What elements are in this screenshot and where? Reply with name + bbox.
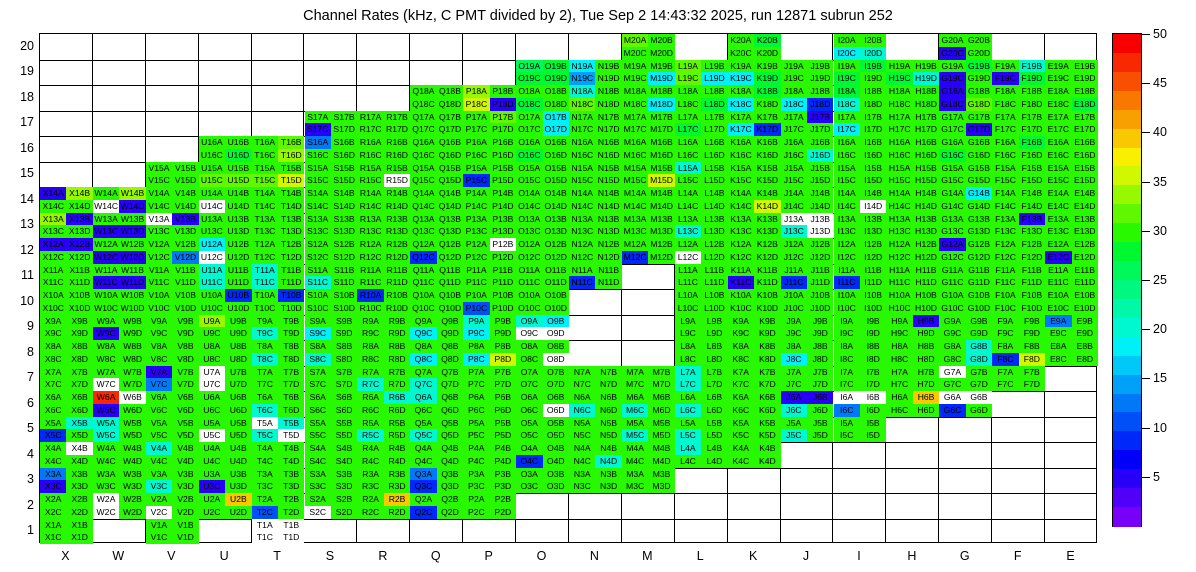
heatmap-cell[interactable]: S6AS6BS6CS6D bbox=[305, 391, 358, 417]
heatmap-cell[interactable]: L15AL15BL15CL15D bbox=[675, 162, 728, 188]
channel-x9c[interactable]: X9C bbox=[40, 327, 66, 340]
channel-o7a[interactable]: O7A bbox=[516, 366, 542, 379]
channel-s10b[interactable]: S10B bbox=[331, 289, 357, 302]
channel-j15a[interactable]: J15A bbox=[781, 162, 807, 175]
heatmap-cell[interactable]: G18AG18BG18CG18D bbox=[939, 85, 992, 111]
channel-r13a[interactable]: R13A bbox=[357, 213, 383, 226]
channel-s16b[interactable]: S16B bbox=[331, 136, 357, 149]
heatmap-cell[interactable]: O9AO9BO9CO9D bbox=[516, 315, 569, 341]
heatmap-cell[interactable]: K5AK5BK5CK5D bbox=[728, 417, 781, 443]
channel-g6d[interactable]: G6D bbox=[966, 404, 992, 417]
heatmap-cell[interactable]: U16AU16BU16CU16D bbox=[199, 136, 252, 162]
heatmap-cell[interactable]: I7AI7BI7CI7D bbox=[834, 366, 887, 392]
channel-g10c[interactable]: G10C bbox=[939, 302, 965, 315]
heatmap-cell[interactable]: N19AN19BN19CN19D bbox=[569, 60, 622, 86]
channel-u11c[interactable]: U11C bbox=[199, 276, 225, 289]
channel-u16b[interactable]: U16B bbox=[225, 136, 251, 149]
channel-n15b[interactable]: N15B bbox=[595, 162, 621, 175]
channel-u12c[interactable]: U12C bbox=[199, 251, 225, 264]
heatmap-cell[interactable]: J5AJ5BJ5CJ5D bbox=[781, 417, 834, 443]
channel-u4b[interactable]: U4B bbox=[225, 442, 251, 455]
channel-o15d[interactable]: O15D bbox=[543, 174, 569, 187]
channel-k18c[interactable]: K18C bbox=[728, 98, 754, 111]
channel-t9b[interactable]: T9B bbox=[278, 315, 304, 328]
heatmap-cell[interactable]: I8AI8BI8CI8D bbox=[834, 340, 887, 366]
heatmap-cell[interactable]: Q15AQ15BQ15CQ15D bbox=[410, 162, 463, 188]
heatmap-cell[interactable]: O14AO14BO14CO14D bbox=[516, 187, 569, 213]
channel-i9a[interactable]: I9A bbox=[834, 315, 860, 328]
channel-i16b[interactable]: I16B bbox=[860, 136, 886, 149]
channel-j12a[interactable]: J12A bbox=[781, 238, 807, 251]
channel-l16b[interactable]: L16B bbox=[701, 136, 727, 149]
channel-k9a[interactable]: K9A bbox=[728, 315, 754, 328]
channel-n18d[interactable]: N18D bbox=[595, 98, 621, 111]
channel-i18a[interactable]: I18A bbox=[834, 85, 860, 98]
heatmap-cell[interactable]: J9AJ9BJ9CJ9D bbox=[781, 315, 834, 341]
channel-p3b[interactable]: P3B bbox=[490, 468, 516, 481]
channel-p13d[interactable]: P13D bbox=[490, 225, 516, 238]
channel-m7d[interactable]: M7D bbox=[648, 378, 674, 391]
channel-s15b[interactable]: S15B bbox=[331, 162, 357, 175]
channel-s16a[interactable]: S16A bbox=[305, 136, 331, 149]
channel-x4c[interactable]: X4C bbox=[40, 455, 66, 468]
channel-l17a[interactable]: L17A bbox=[675, 111, 701, 124]
channel-p16c[interactable]: P16C bbox=[463, 149, 489, 162]
channel-e10b[interactable]: E10B bbox=[1072, 289, 1098, 302]
channel-u3b[interactable]: U3B bbox=[225, 468, 251, 481]
channel-o3b[interactable]: O3B bbox=[543, 468, 569, 481]
channel-k13c[interactable]: K13C bbox=[728, 225, 754, 238]
channel-g11c[interactable]: G11C bbox=[939, 276, 965, 289]
channel-p10b[interactable]: P10B bbox=[490, 289, 516, 302]
channel-s6c[interactable]: S6C bbox=[305, 404, 331, 417]
channel-r2c[interactable]: R2C bbox=[357, 506, 383, 519]
channel-o17c[interactable]: O17C bbox=[516, 123, 542, 136]
heatmap-cell[interactable]: W12AW12BW12CW12D bbox=[93, 238, 146, 264]
channel-t8d[interactable]: T8D bbox=[278, 353, 304, 366]
channel-k9c[interactable]: K9C bbox=[728, 327, 754, 340]
channel-r13d[interactable]: R13D bbox=[384, 225, 410, 238]
channel-p5b[interactable]: P5B bbox=[490, 417, 516, 430]
heatmap-cell[interactable]: L6AL6BL6CL6D bbox=[675, 391, 728, 417]
channel-r3d[interactable]: R3D bbox=[384, 480, 410, 493]
channel-r8c[interactable]: R8C bbox=[357, 353, 383, 366]
channel-s12c[interactable]: S12C bbox=[305, 251, 331, 264]
heatmap-cell[interactable]: K17AK17BK17CK17D bbox=[728, 111, 781, 137]
channel-j9b[interactable]: J9B bbox=[807, 315, 833, 328]
channel-r17b[interactable]: R17B bbox=[384, 111, 410, 124]
channel-s4d[interactable]: S4D bbox=[331, 455, 357, 468]
channel-i15b[interactable]: I15B bbox=[860, 162, 886, 175]
channel-x14d[interactable]: X14D bbox=[66, 200, 92, 213]
heatmap-cell[interactable]: G11AG11BG11CG11D bbox=[939, 264, 992, 290]
heatmap-cell[interactable]: O8AO8BO8CO8D bbox=[516, 340, 569, 366]
channel-p9b[interactable]: P9B bbox=[490, 315, 516, 328]
channel-p3a[interactable]: P3A bbox=[463, 468, 489, 481]
channel-w9c[interactable]: W9C bbox=[93, 327, 119, 340]
channel-w11a[interactable]: W11A bbox=[93, 264, 119, 277]
channel-u13b[interactable]: U13B bbox=[225, 213, 251, 226]
channel-r13b[interactable]: R13B bbox=[384, 213, 410, 226]
channel-n5d[interactable]: N5D bbox=[595, 429, 621, 442]
channel-o8a[interactable]: O8A bbox=[516, 340, 542, 353]
channel-x8b[interactable]: X8B bbox=[66, 340, 92, 353]
channel-p7d[interactable]: P7D bbox=[490, 378, 516, 391]
heatmap-cell[interactable]: F17AF17BF17CF17D bbox=[992, 111, 1045, 137]
channel-t8c[interactable]: T8C bbox=[252, 353, 278, 366]
channel-f19c[interactable]: F19C bbox=[992, 72, 1018, 85]
channel-s2d[interactable]: S2D bbox=[331, 506, 357, 519]
channel-r15c[interactable]: R15C bbox=[357, 174, 383, 187]
channel-x1c[interactable]: X1C bbox=[40, 531, 66, 544]
channel-l18b[interactable]: L18B bbox=[701, 85, 727, 98]
channel-j14a[interactable]: J14A bbox=[781, 187, 807, 200]
channel-w10c[interactable]: W10C bbox=[93, 302, 119, 315]
heatmap-cell[interactable]: P5AP5BP5CP5D bbox=[463, 417, 516, 443]
channel-e11b[interactable]: E11B bbox=[1072, 264, 1098, 277]
channel-j18a[interactable]: J18A bbox=[781, 85, 807, 98]
channel-f9d[interactable]: F9D bbox=[1019, 327, 1045, 340]
heatmap-cell[interactable]: X1AX1BX1CX1D bbox=[40, 519, 93, 545]
channel-p3d[interactable]: P3D bbox=[490, 480, 516, 493]
channel-i13b[interactable]: I13B bbox=[860, 213, 886, 226]
channel-h10b[interactable]: H10B bbox=[913, 289, 939, 302]
channel-x8d[interactable]: X8D bbox=[66, 353, 92, 366]
heatmap-cell[interactable]: L11AL11BL11CL11D bbox=[675, 264, 728, 290]
channel-v3b[interactable]: V3B bbox=[172, 468, 198, 481]
channel-u2a[interactable]: U2A bbox=[199, 493, 225, 506]
channel-p15a[interactable]: P15A bbox=[463, 162, 489, 175]
heatmap-cell[interactable]: Q14AQ14BQ14CQ14D bbox=[410, 187, 463, 213]
heatmap-cell[interactable]: K7AK7BK7CK7D bbox=[728, 366, 781, 392]
channel-m20c[interactable]: M20C bbox=[622, 47, 648, 60]
channel-q9d[interactable]: Q9D bbox=[437, 327, 463, 340]
channel-j13a[interactable]: J13A bbox=[781, 213, 807, 226]
heatmap-cell[interactable]: P2AP2BP2CP2D bbox=[463, 493, 516, 519]
channel-l6d[interactable]: L6D bbox=[701, 404, 727, 417]
heatmap-cell[interactable]: U13AU13BU13CU13D bbox=[199, 213, 252, 239]
channel-n7c[interactable]: N7C bbox=[569, 378, 595, 391]
channel-s2b[interactable]: S2B bbox=[331, 493, 357, 506]
channel-i10d[interactable]: I10D bbox=[860, 302, 886, 315]
channel-r3a[interactable]: R3A bbox=[357, 468, 383, 481]
heatmap-cell[interactable]: M18AM18BM18CM18D bbox=[622, 85, 675, 111]
channel-t15a[interactable]: T15A bbox=[252, 162, 278, 175]
channel-w4d[interactable]: W4D bbox=[119, 455, 145, 468]
channel-k10a[interactable]: K10A bbox=[728, 289, 754, 302]
channel-h13d[interactable]: H13D bbox=[913, 225, 939, 238]
channel-w3c[interactable]: W3C bbox=[93, 480, 119, 493]
channel-l5a[interactable]: L5A bbox=[675, 417, 701, 430]
channel-f17b[interactable]: F17B bbox=[1019, 111, 1045, 124]
channel-n4c[interactable]: N4C bbox=[569, 455, 595, 468]
heatmap-cell[interactable]: E10AE10BE10CE10D bbox=[1045, 289, 1098, 315]
heatmap-cell[interactable]: O12AO12BO12CO12D bbox=[516, 238, 569, 264]
heatmap-cell[interactable]: U8AU8BU8CU8D bbox=[199, 340, 252, 366]
channel-p6a[interactable]: P6A bbox=[463, 391, 489, 404]
channel-k11d[interactable]: K11D bbox=[754, 276, 780, 289]
heatmap-cell[interactable]: P14AP14BP14CP14D bbox=[463, 187, 516, 213]
channel-o12d[interactable]: O12D bbox=[543, 251, 569, 264]
channel-j19c[interactable]: J19C bbox=[781, 72, 807, 85]
channel-o9c[interactable]: O9C bbox=[516, 327, 542, 340]
channel-r5a[interactable]: R5A bbox=[357, 417, 383, 430]
channel-w7b[interactable]: W7B bbox=[119, 366, 145, 379]
channel-n6b[interactable]: N6B bbox=[595, 391, 621, 404]
heatmap-cell[interactable]: O10AO10BO10CO10D bbox=[516, 289, 569, 315]
channel-w14a[interactable]: W14A bbox=[93, 187, 119, 200]
channel-t1a[interactable]: T1A bbox=[252, 519, 278, 532]
channel-s10c[interactable]: S10C bbox=[305, 302, 331, 315]
channel-g20a[interactable]: G20A bbox=[939, 34, 965, 47]
channel-s5d[interactable]: S5D bbox=[331, 429, 357, 442]
channel-m15a[interactable]: M15A bbox=[622, 162, 648, 175]
channel-i6b[interactable]: I6B bbox=[860, 391, 886, 404]
heatmap-cell[interactable]: F13AF13BF13CF13D bbox=[992, 213, 1045, 239]
channel-o11d[interactable]: O11D bbox=[543, 276, 569, 289]
channel-o10c[interactable]: O10C bbox=[516, 302, 542, 315]
channel-v7a[interactable]: V7A bbox=[146, 366, 172, 379]
channel-k14c[interactable]: K14C bbox=[728, 200, 754, 213]
channel-f10c[interactable]: F10C bbox=[992, 302, 1018, 315]
channel-s4c[interactable]: S4C bbox=[305, 455, 331, 468]
channel-x2d[interactable]: X2D bbox=[66, 506, 92, 519]
channel-l5b[interactable]: L5B bbox=[701, 417, 727, 430]
channel-g14b[interactable]: G14B bbox=[966, 187, 992, 200]
channel-m18c[interactable]: M18C bbox=[622, 98, 648, 111]
channel-k12a[interactable]: K12A bbox=[728, 238, 754, 251]
channel-i19d[interactable]: I19D bbox=[860, 72, 886, 85]
channel-l9b[interactable]: L9B bbox=[701, 315, 727, 328]
channel-h16d[interactable]: H16D bbox=[913, 149, 939, 162]
heatmap-cell[interactable]: M6AM6BM6CM6D bbox=[622, 391, 675, 417]
channel-o19a[interactable]: O19A bbox=[516, 60, 542, 73]
channel-w7a[interactable]: W7A bbox=[93, 366, 119, 379]
channel-g11d[interactable]: G11D bbox=[966, 276, 992, 289]
channel-t5c[interactable]: T5C bbox=[252, 429, 278, 442]
channel-p7c[interactable]: P7C bbox=[463, 378, 489, 391]
channel-g6c[interactable]: G6C bbox=[939, 404, 965, 417]
heatmap-cell[interactable]: W7AW7BW7CW7D bbox=[93, 366, 146, 392]
channel-i10c[interactable]: I10C bbox=[834, 302, 860, 315]
channel-t13b[interactable]: T13B bbox=[278, 213, 304, 226]
channel-j8b[interactable]: J8B bbox=[807, 340, 833, 353]
heatmap-cell[interactable]: R2AR2BR2CR2D bbox=[357, 493, 410, 519]
channel-q14c[interactable]: Q14C bbox=[410, 200, 436, 213]
channel-o4a[interactable]: O4A bbox=[516, 442, 542, 455]
channel-g11a[interactable]: G11A bbox=[939, 264, 965, 277]
channel-k11b[interactable]: K11B bbox=[754, 264, 780, 277]
channel-t1d[interactable]: T1D bbox=[278, 531, 304, 544]
channel-l11b[interactable]: L11B bbox=[701, 264, 727, 277]
channel-v1a[interactable]: V1A bbox=[146, 519, 172, 532]
channel-i8b[interactable]: I8B bbox=[860, 340, 886, 353]
channel-m13c[interactable]: M13C bbox=[622, 225, 648, 238]
channel-r10d[interactable]: R10D bbox=[384, 302, 410, 315]
heatmap-cell[interactable]: W9AW9BW9CW9D bbox=[93, 315, 146, 341]
channel-g17c[interactable]: G17C bbox=[939, 123, 965, 136]
channel-h12d[interactable]: H12D bbox=[913, 251, 939, 264]
channel-l13a[interactable]: L13A bbox=[675, 213, 701, 226]
channel-n12b[interactable]: N12B bbox=[595, 238, 621, 251]
heatmap-cell[interactable]: Q13AQ13BQ13CQ13D bbox=[410, 213, 463, 239]
channel-f10d[interactable]: F10D bbox=[1019, 302, 1045, 315]
channel-o16a[interactable]: O16A bbox=[516, 136, 542, 149]
channel-i17d[interactable]: I17D bbox=[860, 123, 886, 136]
heatmap-cell[interactable]: P12AP12BP12CP12D bbox=[463, 238, 516, 264]
heatmap-cell[interactable]: Q6AQ6BQ6CQ6D bbox=[410, 391, 463, 417]
channel-g19b[interactable]: G19B bbox=[966, 60, 992, 73]
channel-i11c[interactable]: I11C bbox=[834, 276, 860, 289]
channel-t14d[interactable]: T14D bbox=[278, 200, 304, 213]
channel-u8b[interactable]: U8B bbox=[225, 340, 251, 353]
channel-v6d[interactable]: V6D bbox=[172, 404, 198, 417]
channel-k5a[interactable]: K5A bbox=[728, 417, 754, 430]
heatmap-cell[interactable]: U11AU11BU11CU11D bbox=[199, 264, 252, 290]
channel-m19a[interactable]: M19A bbox=[622, 60, 648, 73]
channel-v5d[interactable]: V5D bbox=[172, 429, 198, 442]
channel-u10a[interactable]: U10A bbox=[199, 289, 225, 302]
channel-t11c[interactable]: T11C bbox=[252, 276, 278, 289]
channel-w13a[interactable]: W13A bbox=[93, 213, 119, 226]
channel-p9d[interactable]: P9D bbox=[490, 327, 516, 340]
channel-n5b[interactable]: N5B bbox=[595, 417, 621, 430]
heatmap-cell[interactable]: G9AG9BG9CG9D bbox=[939, 315, 992, 341]
heatmap-cell[interactable]: N14AN14BN14CN14D bbox=[569, 187, 622, 213]
channel-p11c[interactable]: P11C bbox=[463, 276, 489, 289]
channel-g16b[interactable]: G16B bbox=[966, 136, 992, 149]
heatmap-cell[interactable]: O3AO3BO3CO3D bbox=[516, 468, 569, 494]
channel-o3d[interactable]: O3D bbox=[543, 480, 569, 493]
channel-g9c[interactable]: G9C bbox=[939, 327, 965, 340]
channel-g18a[interactable]: G18A bbox=[939, 85, 965, 98]
channel-u10c[interactable]: U10C bbox=[199, 302, 225, 315]
channel-n17d[interactable]: N17D bbox=[595, 123, 621, 136]
channel-g20c[interactable]: G20C bbox=[939, 47, 965, 60]
channel-v12d[interactable]: V12D bbox=[172, 251, 198, 264]
channel-q11c[interactable]: Q11C bbox=[410, 276, 436, 289]
channel-x5b[interactable]: X5B bbox=[66, 417, 92, 430]
channel-g6b[interactable]: G6B bbox=[966, 391, 992, 404]
channel-o3a[interactable]: O3A bbox=[516, 468, 542, 481]
channel-n16c[interactable]: N16C bbox=[569, 149, 595, 162]
heatmap-cell[interactable]: S5AS5BS5CS5D bbox=[305, 417, 358, 443]
heatmap-cell[interactable]: L8AL8BL8CL8D bbox=[675, 340, 728, 366]
heatmap-cell[interactable]: M17AM17BM17CM17D bbox=[622, 111, 675, 137]
heatmap-cell[interactable]: T15AT15BT15CT15D bbox=[252, 162, 305, 188]
channel-w8d[interactable]: W8D bbox=[119, 353, 145, 366]
channel-e19a[interactable]: E19A bbox=[1045, 60, 1071, 73]
channel-f13b[interactable]: F13B bbox=[1019, 213, 1045, 226]
channel-e13b[interactable]: E13B bbox=[1072, 213, 1098, 226]
channel-r3b[interactable]: R3B bbox=[384, 468, 410, 481]
channel-g15b[interactable]: G15B bbox=[966, 162, 992, 175]
heatmap-cell[interactable]: K13AK13BK13CK13D bbox=[728, 213, 781, 239]
channel-l10a[interactable]: L10A bbox=[675, 289, 701, 302]
channel-i15a[interactable]: I15A bbox=[834, 162, 860, 175]
channel-v2b[interactable]: V2B bbox=[172, 493, 198, 506]
channel-w8b[interactable]: W8B bbox=[119, 340, 145, 353]
channel-p4d[interactable]: P4D bbox=[490, 455, 516, 468]
channel-x14a[interactable]: X14A bbox=[40, 187, 66, 200]
channel-q8c[interactable]: Q8C bbox=[410, 353, 436, 366]
channel-e10a[interactable]: E10A bbox=[1045, 289, 1071, 302]
channel-f18b[interactable]: F18B bbox=[1019, 85, 1045, 98]
channel-t8a[interactable]: T8A bbox=[252, 340, 278, 353]
channel-u9c[interactable]: U9C bbox=[199, 327, 225, 340]
channel-h17d[interactable]: H17D bbox=[913, 123, 939, 136]
channel-i8d[interactable]: I8D bbox=[860, 353, 886, 366]
channel-x10d[interactable]: X10D bbox=[66, 302, 92, 315]
heatmap-cell[interactable]: F7AF7BF7CF7D bbox=[992, 366, 1045, 392]
channel-t12b[interactable]: T12B bbox=[278, 238, 304, 251]
channel-s3c[interactable]: S3C bbox=[305, 480, 331, 493]
channel-l4b[interactable]: L4B bbox=[701, 442, 727, 455]
channel-t15c[interactable]: T15C bbox=[252, 174, 278, 187]
channel-g19c[interactable]: G19C bbox=[939, 72, 965, 85]
channel-f18c[interactable]: F18C bbox=[992, 98, 1018, 111]
channel-v15a[interactable]: V15A bbox=[146, 162, 172, 175]
channel-i12d[interactable]: I12D bbox=[860, 251, 886, 264]
channel-f16a[interactable]: F16A bbox=[992, 136, 1018, 149]
channel-i5a[interactable]: I5A bbox=[834, 417, 860, 430]
channel-o17a[interactable]: O17A bbox=[516, 111, 542, 124]
channel-k4a[interactable]: K4A bbox=[728, 442, 754, 455]
channel-o18b[interactable]: O18B bbox=[543, 85, 569, 98]
heatmap-cell[interactable]: E12AE12BE12CE12D bbox=[1045, 238, 1098, 264]
channel-i11d[interactable]: I11D bbox=[860, 276, 886, 289]
channel-u3d[interactable]: U3D bbox=[225, 480, 251, 493]
channel-q3c[interactable]: Q3C bbox=[410, 480, 436, 493]
channel-s5a[interactable]: S5A bbox=[305, 417, 331, 430]
channel-s8a[interactable]: S8A bbox=[305, 340, 331, 353]
heatmap-cell[interactable]: P16AP16BP16CP16D bbox=[463, 136, 516, 162]
channel-k8d[interactable]: K8D bbox=[754, 353, 780, 366]
channel-v14c[interactable]: V14C bbox=[146, 200, 172, 213]
channel-v15b[interactable]: V15B bbox=[172, 162, 198, 175]
channel-j6d[interactable]: J6D bbox=[807, 404, 833, 417]
heatmap-cell[interactable]: R17AR17BR17CR17D bbox=[357, 111, 410, 137]
channel-h7d[interactable]: H7D bbox=[913, 378, 939, 391]
channel-f11b[interactable]: F11B bbox=[1019, 264, 1045, 277]
channel-j5c[interactable]: J5C bbox=[781, 429, 807, 442]
channel-i18c[interactable]: I18C bbox=[834, 98, 860, 111]
channel-l7a[interactable]: L7A bbox=[675, 366, 701, 379]
channel-q4d[interactable]: Q4D bbox=[437, 455, 463, 468]
channel-u11d[interactable]: U11D bbox=[225, 276, 251, 289]
channel-j9a[interactable]: J9A bbox=[781, 315, 807, 328]
channel-u15a[interactable]: U15A bbox=[199, 162, 225, 175]
channel-p14c[interactable]: P14C bbox=[463, 200, 489, 213]
channel-l17d[interactable]: L17D bbox=[701, 123, 727, 136]
channel-h8b[interactable]: H8B bbox=[913, 340, 939, 353]
channel-w9a[interactable]: W9A bbox=[93, 315, 119, 328]
channel-s9c[interactable]: S9C bbox=[305, 327, 331, 340]
channel-h11d[interactable]: H11D bbox=[913, 276, 939, 289]
channel-h11a[interactable]: H11A bbox=[886, 264, 912, 277]
heatmap-cell[interactable]: V4AV4BV4CV4D bbox=[146, 442, 199, 468]
channel-e9b[interactable]: E9B bbox=[1072, 315, 1098, 328]
channel-f19b[interactable]: F19B bbox=[1019, 60, 1045, 73]
channel-v14a[interactable]: V14A bbox=[146, 187, 172, 200]
channel-i17a[interactable]: I17A bbox=[834, 111, 860, 124]
heatmap-cell[interactable]: W11AW11BW11CW11D bbox=[93, 264, 146, 290]
channel-r9d[interactable]: R9D bbox=[384, 327, 410, 340]
channel-m7c[interactable]: M7C bbox=[622, 378, 648, 391]
channel-l12b[interactable]: L12B bbox=[701, 238, 727, 251]
channel-t12c[interactable]: T12C bbox=[252, 251, 278, 264]
channel-i18b[interactable]: I18B bbox=[860, 85, 886, 98]
